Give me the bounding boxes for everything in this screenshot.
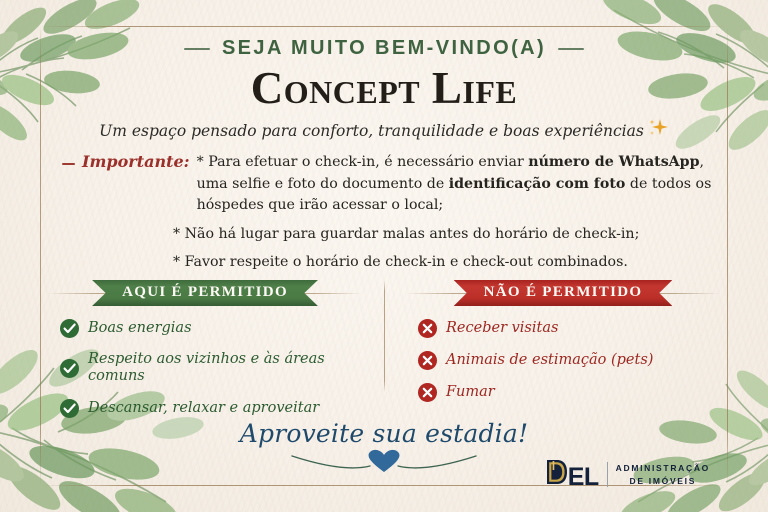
- bullet-star-3: *: [173, 254, 180, 270]
- important-item-3-text: Favor respeite o horário de check-in e c…: [185, 254, 628, 270]
- important-first-item: Importante: * Para efetuar o check-in, é…: [62, 152, 720, 217]
- page-subtitle: Um espaço pensado para conforto, tranqui…: [0, 118, 768, 142]
- logo-text: EL: [568, 465, 599, 490]
- logo-mark: EL: [546, 459, 599, 490]
- welcome-text: SEJA MUITO BEM-VINDO(A): [222, 37, 546, 60]
- important-item-2-text: Não há lugar para guardar malas antes do…: [185, 226, 640, 242]
- company-logo: EL ADMINISTRAÇÃO DE IMÓVEIS: [546, 459, 710, 490]
- list-item: Fumar: [418, 383, 720, 402]
- list-item: Descansar, relaxar e aproveitar: [60, 399, 362, 418]
- card-content: SEJA MUITO BEM-VINDO(A) Concept Life Um …: [0, 0, 768, 512]
- check-circle-icon: [60, 399, 79, 418]
- important-item-2: * Não há lugar para guardar malas antes …: [173, 224, 720, 246]
- x-circle-icon: [418, 319, 437, 338]
- bullet-star-2: *: [173, 226, 180, 242]
- page-title: Concept Life: [0, 62, 768, 114]
- allowed-item-3: Descansar, relaxar e aproveitar: [88, 400, 319, 417]
- list-item: Animais de estimação (pets): [418, 351, 720, 370]
- imp1-bold-whatsapp: número de WhatsApp: [528, 154, 699, 170]
- logo-divider: [607, 462, 608, 487]
- logo-tagline-line1: ADMINISTRAÇÃO: [616, 463, 710, 473]
- list-item: Boas energias: [60, 319, 362, 338]
- important-remaining-items: * Não há lugar para guardar malas antes …: [173, 224, 720, 274]
- allowed-banner: AQUI É PERMITIDO: [92, 280, 318, 306]
- x-circle-icon: [418, 351, 437, 370]
- welcome-dash-right: [558, 48, 584, 50]
- forbidden-item-3: Fumar: [446, 384, 495, 401]
- imp1-bold-id: identificação com foto: [449, 176, 626, 192]
- forbidden-list: Receber visitas Animais de estimação (pe…: [406, 319, 720, 402]
- check-circle-icon: [60, 359, 79, 378]
- important-item-3: * Favor respeite o horário de check-in e…: [173, 252, 720, 274]
- rules-columns: AQUI É PERMITIDO Boas energias Respeito …: [48, 278, 720, 431]
- allowed-column: AQUI É PERMITIDO Boas energias Respeito …: [48, 278, 384, 431]
- logo-tagline: ADMINISTRAÇÃO DE IMÓVEIS: [616, 462, 710, 487]
- allowed-item-2: Respeito aos vizinhos e às áreas comuns: [88, 351, 362, 386]
- forbidden-column: NÃO É PERMITIDO Receber visitas Animais …: [384, 278, 720, 431]
- welcome-banner: SEJA MUITO BEM-VINDO(A): [0, 37, 768, 60]
- allowed-list: Boas energias Respeito aos vizinhos e às…: [48, 319, 362, 418]
- welcome-card: SEJA MUITO BEM-VINDO(A) Concept Life Um …: [0, 0, 768, 512]
- important-section: Importante: * Para efetuar o check-in, é…: [62, 152, 720, 274]
- logo-d-icon: [546, 459, 568, 485]
- allowed-banner-wrap: AQUI É PERMITIDO: [48, 278, 362, 308]
- list-item: Receber visitas: [418, 319, 720, 338]
- important-dash: [62, 163, 75, 165]
- welcome-dash-left: [184, 48, 210, 50]
- important-item-1-text: * Para efetuar o check-in, é necessário …: [197, 152, 720, 217]
- sparkles-icon: [647, 118, 669, 142]
- list-item: Respeito aos vizinhos e às áreas comuns: [60, 351, 362, 386]
- forbidden-banner: NÃO É PERMITIDO: [454, 280, 673, 306]
- x-circle-icon: [418, 383, 437, 402]
- subtitle-text: Um espaço pensado para conforto, tranqui…: [99, 122, 644, 140]
- allowed-item-1: Boas energias: [88, 320, 192, 337]
- bullet-star-1: *: [197, 154, 204, 170]
- forbidden-item-1: Receber visitas: [446, 320, 558, 337]
- important-label: Importante:: [82, 152, 190, 171]
- heart-icon: [284, 448, 484, 474]
- forbidden-item-2: Animais de estimação (pets): [446, 352, 653, 369]
- closing-message: Aproveite sua estadia!: [0, 419, 768, 448]
- check-circle-icon: [60, 319, 79, 338]
- imp1-prefix: Para efetuar o check-in, é necessário en…: [208, 154, 528, 170]
- forbidden-banner-wrap: NÃO É PERMITIDO: [406, 278, 720, 308]
- logo-tagline-line2: DE IMÓVEIS: [630, 476, 697, 486]
